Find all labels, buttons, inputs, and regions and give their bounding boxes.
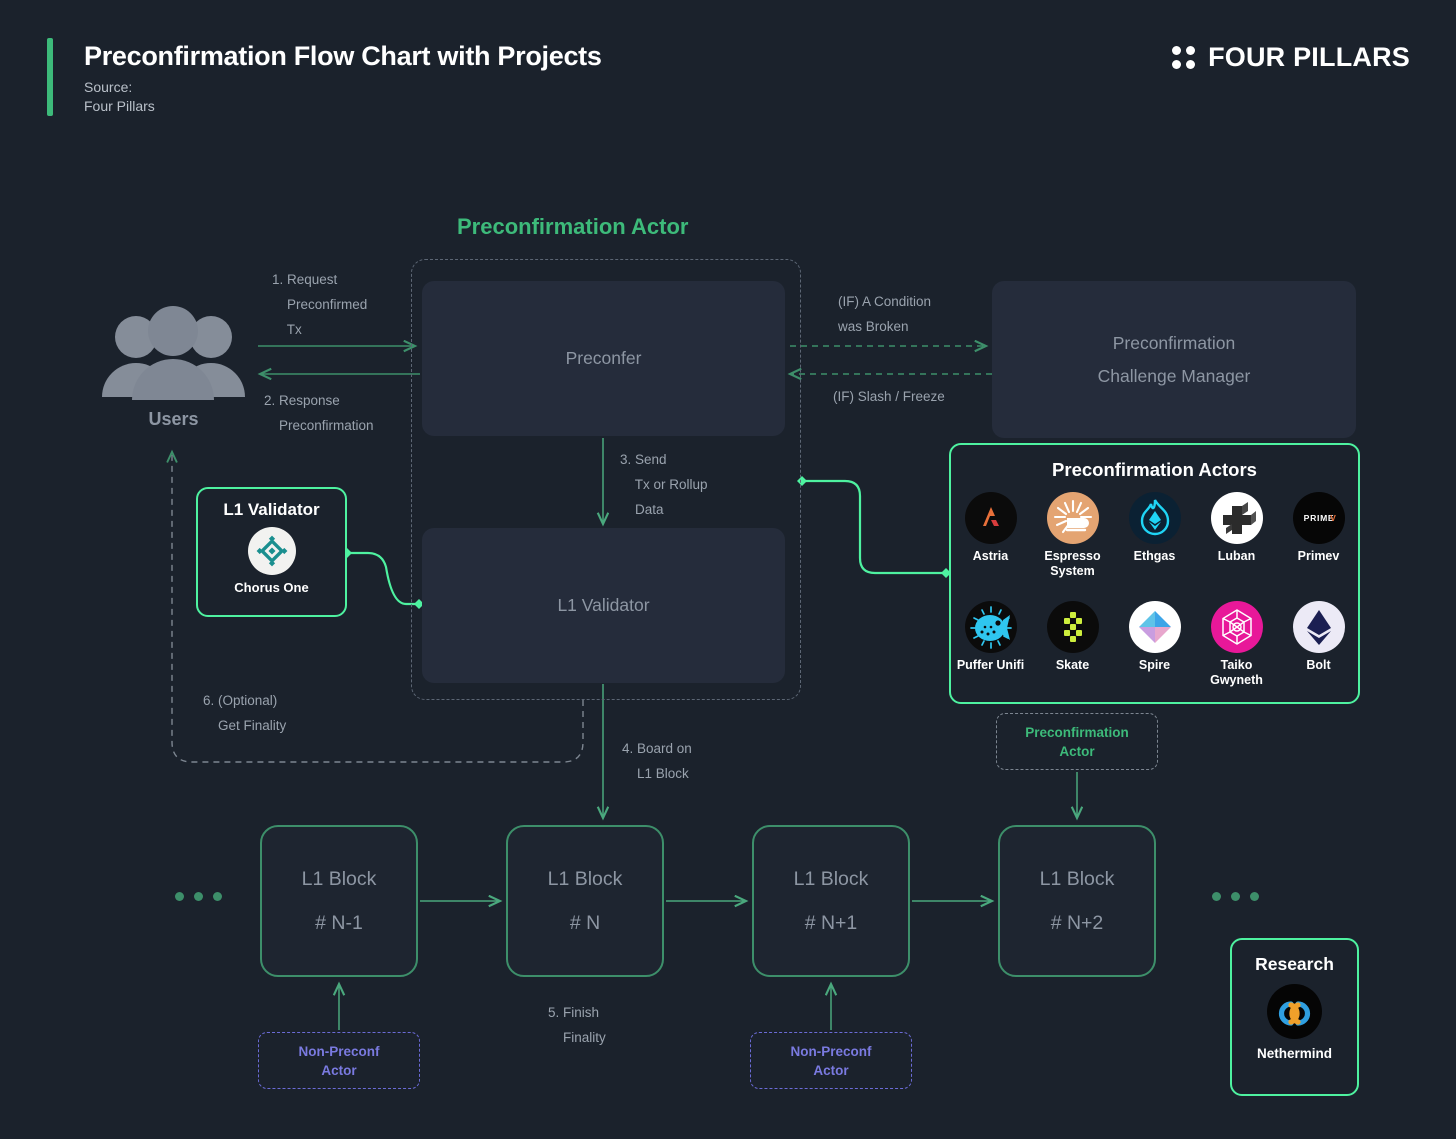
ellipsis-right-icon <box>1212 892 1259 901</box>
actor-skate[interactable]: Skate <box>1046 601 1100 688</box>
accent-bar <box>47 38 53 116</box>
actor-spire[interactable]: Spire <box>1128 601 1182 688</box>
espresso-logo <box>1047 492 1099 544</box>
challenge-manager-line-1: Preconfirmation <box>1098 327 1251 360</box>
actor-name: Taiko Gwyneth <box>1200 658 1274 688</box>
research-card-heading: Research <box>1232 954 1357 975</box>
actor-astria[interactable]: Astria <box>964 492 1018 579</box>
actor-name: Luban <box>1200 549 1274 564</box>
node-challenge-manager[interactable]: Preconfirmation Challenge Manager <box>992 281 1356 438</box>
diagram-canvas: Preconfirmation Flow Chart with Projects… <box>0 0 1456 1139</box>
bolt-logo <box>1293 601 1345 653</box>
source-label: Source: <box>84 78 132 96</box>
actors-row-2: Puffer Unifi <box>951 601 1358 688</box>
users-group: Users <box>96 305 251 430</box>
page-title: Preconfirmation Flow Chart with Projects <box>84 41 602 72</box>
actor-name: Primev <box>1282 549 1356 564</box>
four-dots-icon <box>1172 46 1195 69</box>
primev-logo: PRIME V <box>1293 492 1345 544</box>
block-line-2: # N <box>570 901 600 945</box>
block-line-2: # N+2 <box>1051 901 1104 945</box>
spire-logo <box>1129 601 1181 653</box>
actor-luban[interactable]: Luban <box>1210 492 1264 579</box>
edge-label-step-1: 1. Request Preconfirmed Tx <box>272 267 367 342</box>
tag-non-preconf-actor: Non-Preconf Actor <box>750 1032 912 1089</box>
actor-name: Astria <box>954 549 1028 564</box>
l1-block[interactable]: L1 Block # N+2 <box>998 825 1156 977</box>
astria-logo <box>965 492 1017 544</box>
validator-card-heading: L1 Validator <box>198 500 345 520</box>
edge-label-step-2: 2. Response Preconfirmation <box>264 388 374 438</box>
actor-taiko-gwyneth[interactable]: Taiko Gwyneth <box>1210 601 1264 688</box>
preconfirmation-actors-panel: Preconfirmation Actors Astria <box>949 443 1360 704</box>
l1-block[interactable]: L1 Block # N-1 <box>260 825 418 977</box>
actor-bolt[interactable]: Bolt <box>1292 601 1346 688</box>
l1-block[interactable]: L1 Block # N <box>506 825 664 977</box>
actors-panel-title: Preconfirmation Actors <box>951 459 1358 481</box>
skate-logo <box>1047 601 1099 653</box>
block-line-1: L1 Block <box>302 857 377 901</box>
edge-label-if-slash: (IF) Slash / Freeze <box>833 384 945 409</box>
actor-name: Ethgas <box>1118 549 1192 564</box>
block-line-1: L1 Block <box>548 857 623 901</box>
actor-name: Skate <box>1036 658 1110 673</box>
actor-puffer-unifi[interactable]: Puffer Unifi <box>964 601 1018 688</box>
page-header: Preconfirmation Flow Chart with Projects… <box>0 0 1456 140</box>
tag-non-preconf-actor: Non-Preconf Actor <box>258 1032 420 1089</box>
research-project-card[interactable]: Research Nethermind <box>1230 938 1359 1096</box>
l1-validator-project-card[interactable]: L1 Validator Chorus One <box>196 487 347 617</box>
edge-label-if-condition: (IF) A Condition was Broken <box>838 289 931 339</box>
block-line-1: L1 Block <box>1040 857 1115 901</box>
node-l1-validator[interactable]: L1 Validator <box>422 528 785 683</box>
edge-label-step-6: 6. (Optional) Get Finality <box>203 688 286 738</box>
taiko-logo <box>1211 601 1263 653</box>
preconfirmation-actor-group-title: Preconfirmation Actor <box>457 214 688 240</box>
block-line-2: # N+1 <box>805 901 858 945</box>
actor-name: Puffer Unifi <box>954 658 1028 673</box>
edge-label-step-4: 4. Board on L1 Block <box>622 736 692 786</box>
block-line-2: # N-1 <box>315 901 363 945</box>
chorus-one-logo <box>248 527 296 575</box>
ethgas-logo <box>1129 492 1181 544</box>
users-icon <box>96 305 251 400</box>
source-value: Four Pillars <box>84 97 155 115</box>
edge-label-step-5: 5. Finish Finality <box>548 1000 606 1050</box>
brand-name: FOUR PILLARS <box>1208 42 1410 73</box>
actor-name: Spire <box>1118 658 1192 673</box>
puffer-logo <box>965 601 1017 653</box>
luban-logo <box>1211 492 1263 544</box>
challenge-manager-line-2: Challenge Manager <box>1098 360 1251 393</box>
users-label: Users <box>96 409 251 430</box>
chorus-one-caption: Chorus One <box>198 580 345 595</box>
block-line-1: L1 Block <box>794 857 869 901</box>
l1-block[interactable]: L1 Block # N+1 <box>752 825 910 977</box>
actor-name: Bolt <box>1282 658 1356 673</box>
nethermind-caption: Nethermind <box>1232 1046 1357 1061</box>
ellipsis-left-icon <box>175 892 222 901</box>
brand-logo: FOUR PILLARS <box>1172 42 1410 73</box>
actor-primev[interactable]: PRIME V Primev <box>1292 492 1346 579</box>
node-preconfer[interactable]: Preconfer <box>422 281 785 436</box>
tag-preconfirmation-actor: Preconfirmation Actor <box>996 713 1158 770</box>
actor-espresso-system[interactable]: Espresso System <box>1046 492 1100 579</box>
actor-name: Espresso System <box>1036 549 1110 579</box>
actors-row-1: Astria <box>951 492 1358 579</box>
svg-text:V: V <box>1330 513 1336 523</box>
nethermind-logo <box>1267 984 1322 1039</box>
actor-ethgas[interactable]: Ethgas <box>1128 492 1182 579</box>
